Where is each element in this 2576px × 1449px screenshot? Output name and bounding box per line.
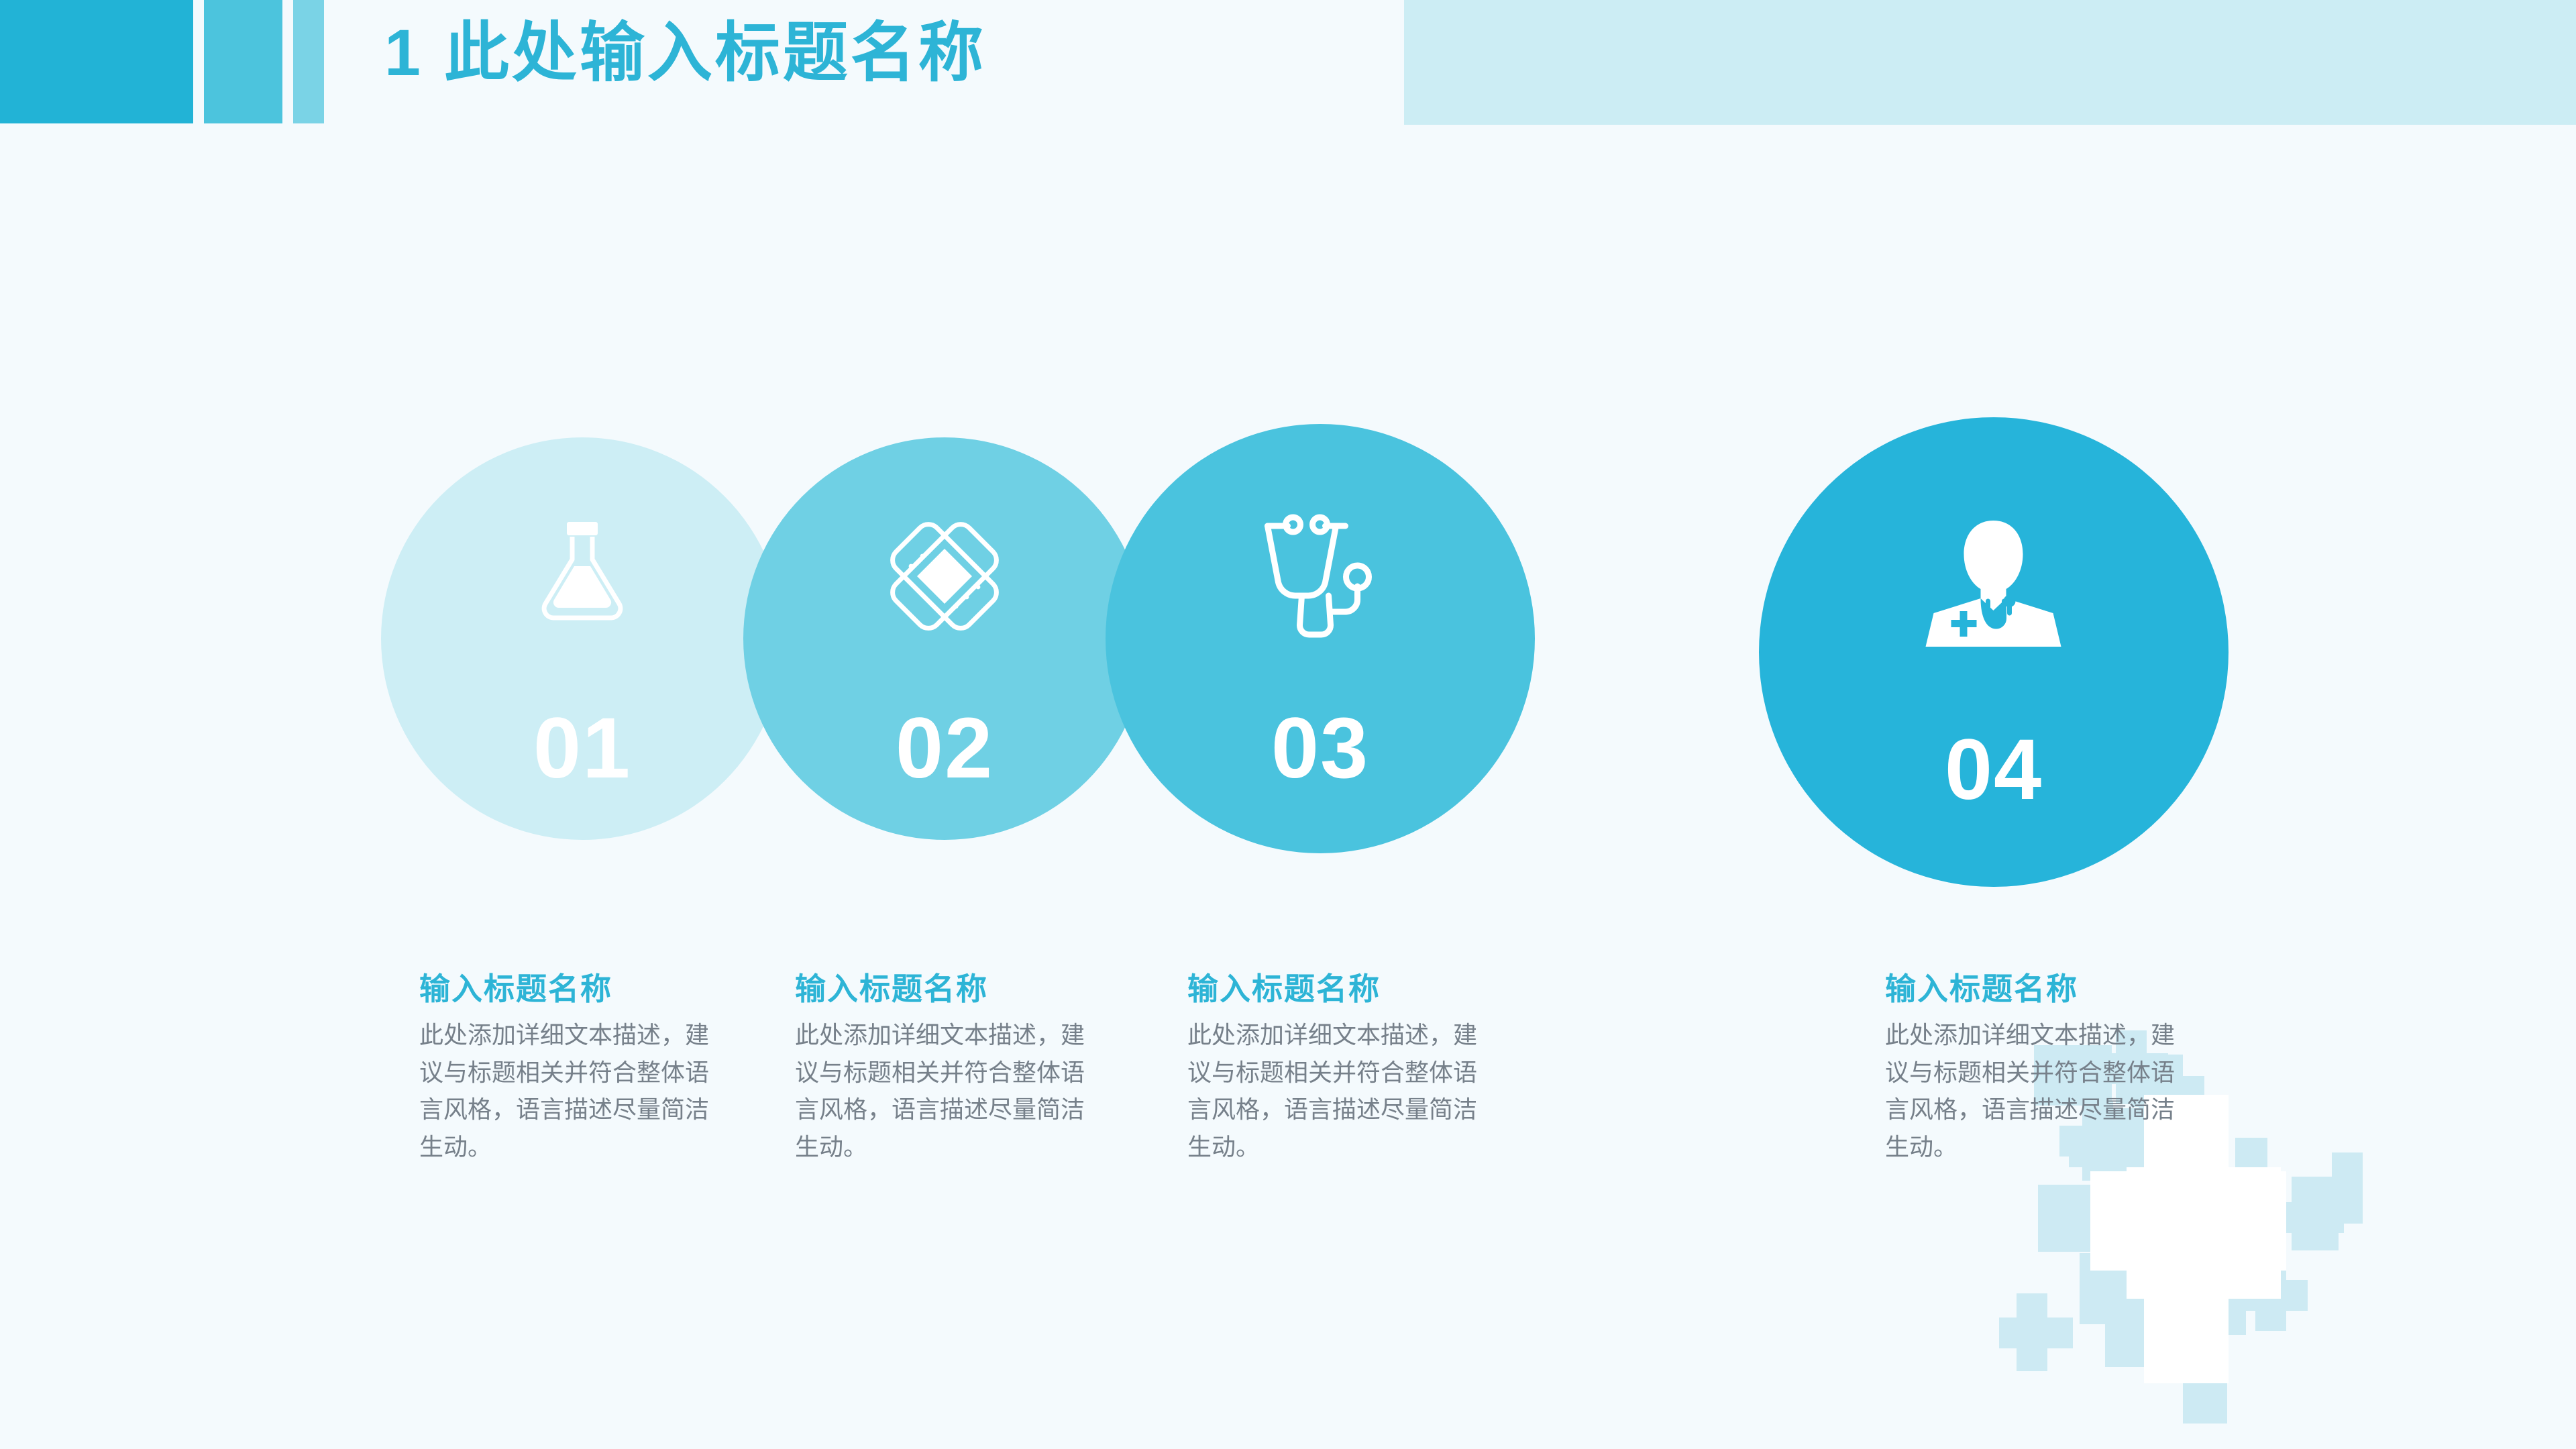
flask-icon bbox=[532, 518, 633, 629]
column-body: 此处添加详细文本描述，建议与标题相关并符合整体语言风格，语言描述尽量简洁生动。 bbox=[795, 1016, 1085, 1166]
column-title: 输入标题名称 bbox=[795, 971, 1085, 1007]
column-body: 此处添加详细文本描述，建议与标题相关并符合整体语言风格，语言描述尽量简洁生动。 bbox=[1187, 1016, 1477, 1166]
bandage-cross-icon bbox=[881, 518, 1008, 639]
slide-canvas: 1 此处输入标题名称 01 bbox=[0, 0, 2576, 1449]
header-bar-tertiary bbox=[293, 0, 324, 123]
text-column-03: 输入标题名称 此处添加详细文本描述，建议与标题相关并符合整体语言风格，语言描述尽… bbox=[1187, 971, 1477, 1166]
header-band-right bbox=[1404, 0, 2576, 125]
text-column-02: 输入标题名称 此处添加详细文本描述，建议与标题相关并符合整体语言风格，语言描述尽… bbox=[795, 971, 1085, 1166]
doctor-icon bbox=[1922, 518, 2066, 652]
column-title: 输入标题名称 bbox=[419, 971, 709, 1007]
step-number: 04 bbox=[1759, 727, 2229, 813]
step-number: 03 bbox=[1106, 706, 1535, 792]
column-body: 此处添加详细文本描述，建议与标题相关并符合整体语言风格，语言描述尽量简洁生动。 bbox=[1885, 1016, 2175, 1166]
step-number: 02 bbox=[743, 706, 1146, 792]
column-title: 输入标题名称 bbox=[1885, 971, 2175, 1007]
header-bar-primary bbox=[0, 0, 193, 123]
step-circle-03[interactable]: 03 bbox=[1106, 424, 1535, 853]
step-circle-04[interactable]: 04 bbox=[1759, 417, 2229, 887]
stethoscope-icon bbox=[1258, 511, 1383, 642]
header-bar-secondary bbox=[204, 0, 282, 123]
text-column-01: 输入标题名称 此处添加详细文本描述，建议与标题相关并符合整体语言风格，语言描述尽… bbox=[419, 971, 709, 1166]
column-title: 输入标题名称 bbox=[1187, 971, 1477, 1007]
step-number: 01 bbox=[381, 706, 784, 792]
step-circle-01[interactable]: 01 bbox=[381, 437, 784, 840]
text-column-04: 输入标题名称 此处添加详细文本描述，建议与标题相关并符合整体语言风格，语言描述尽… bbox=[1885, 971, 2175, 1166]
column-body: 此处添加详细文本描述，建议与标题相关并符合整体语言风格，语言描述尽量简洁生动。 bbox=[419, 1016, 709, 1166]
step-circle-02[interactable]: 02 bbox=[743, 437, 1146, 840]
page-title: 1 此处输入标题名称 bbox=[384, 12, 986, 93]
